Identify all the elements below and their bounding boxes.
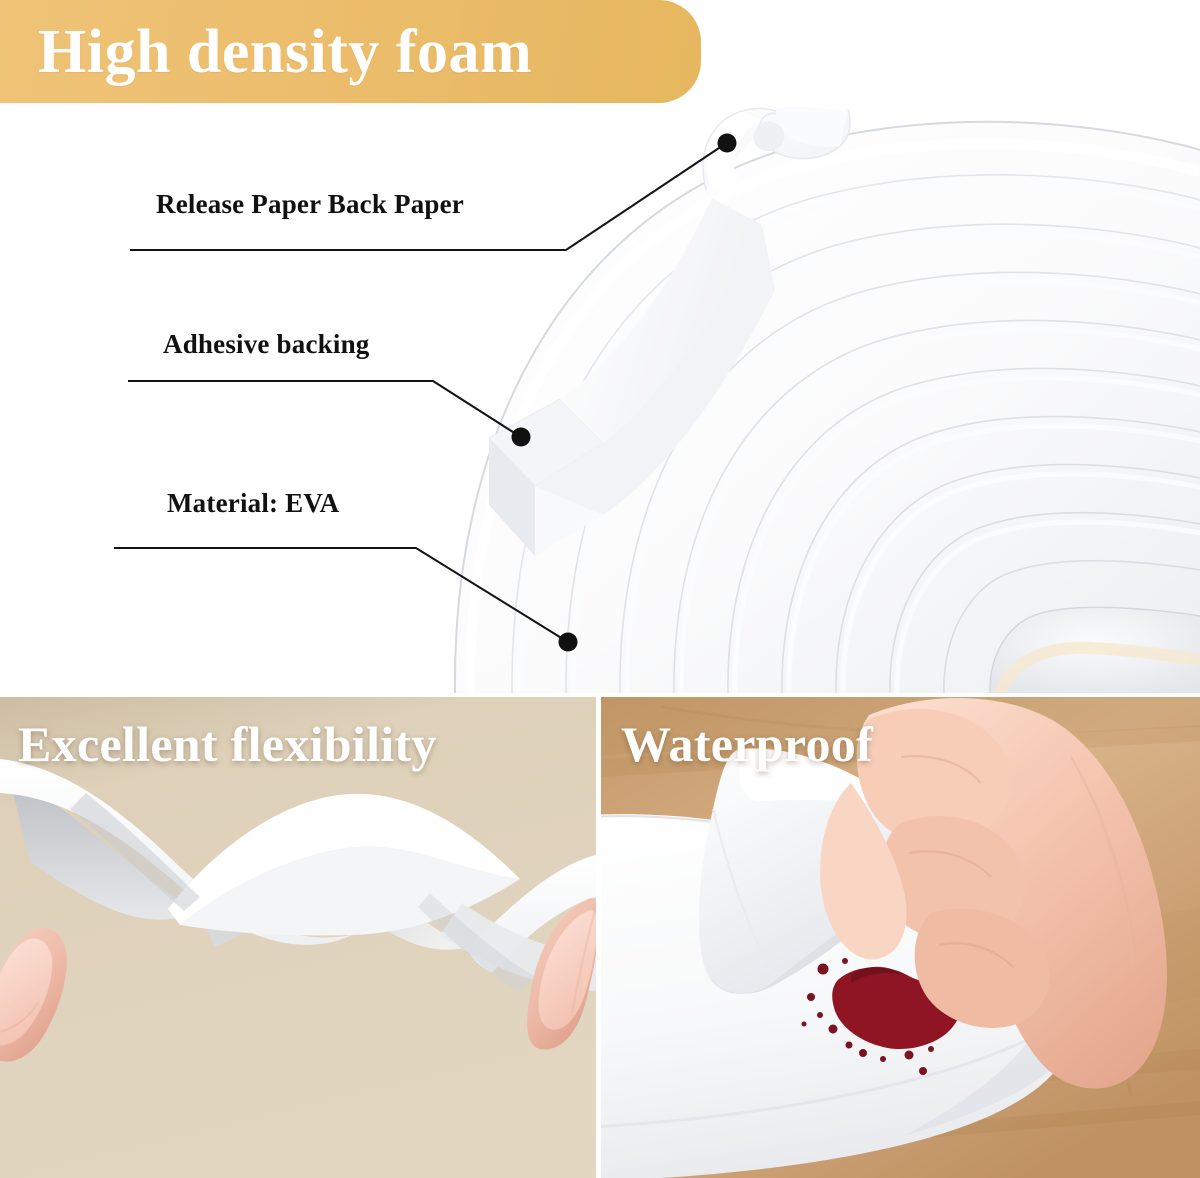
- callout-dot-release-paper: [718, 134, 737, 153]
- callout-label-release-paper: Release Paper Back Paper: [156, 189, 464, 220]
- feature-heading-waterproof: Waterproof: [621, 719, 873, 769]
- leader-line-adhesive: [128, 381, 531, 447]
- feature-heading-flexibility: Excellent flexibility: [18, 719, 437, 769]
- callout-label-material: Material: EVA: [167, 488, 339, 519]
- callout-dot-material: [559, 633, 578, 652]
- top-product-panel: Release Paper Back Paper Adhesive backin…: [0, 0, 1200, 693]
- callout-dot-adhesive: [512, 428, 531, 447]
- infographic-page: Release Paper Back Paper Adhesive backin…: [0, 0, 1200, 1178]
- feature-panel-waterproof: Waterproof: [601, 697, 1200, 1178]
- feature-panels-row: Excellent flexibility: [0, 697, 1200, 1178]
- feature-panel-flexibility: Excellent flexibility: [0, 697, 596, 1178]
- callout-label-adhesive-backing: Adhesive backing: [163, 329, 370, 360]
- leader-line-material: [114, 548, 578, 652]
